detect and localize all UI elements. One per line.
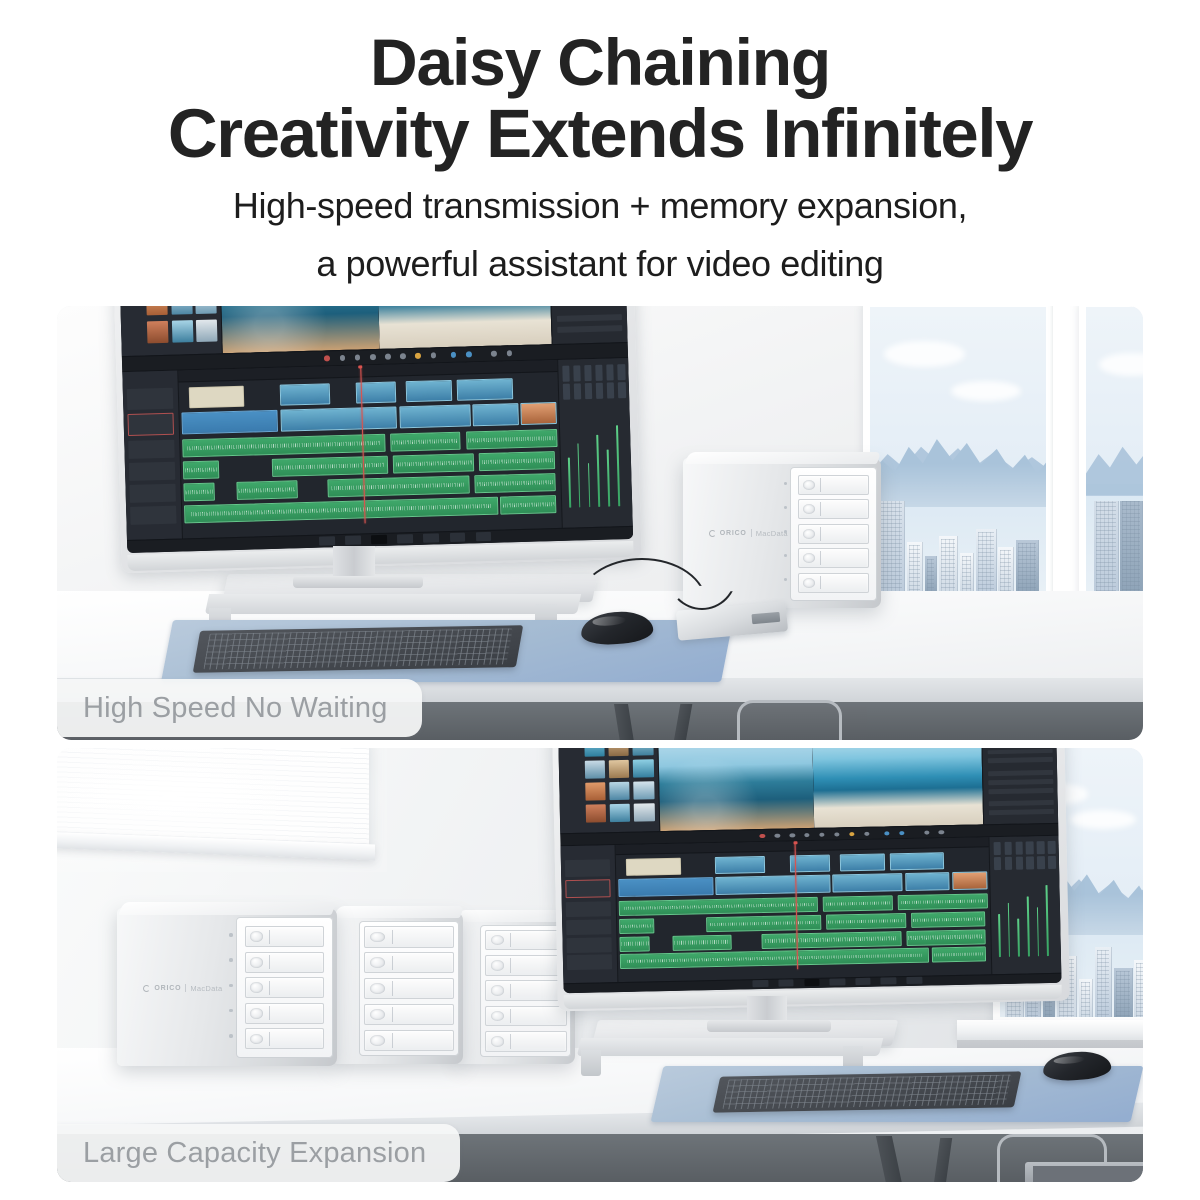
drive-bay[interactable] <box>798 499 869 519</box>
source-viewer[interactable] <box>220 306 380 353</box>
caption-badge-large-capacity: Large Capacity Expansion <box>57 1124 460 1182</box>
building <box>877 501 905 593</box>
brand-divider <box>751 529 752 537</box>
drive-status-led <box>229 984 233 988</box>
mixer-knob[interactable] <box>1004 857 1011 870</box>
drive-status-led <box>229 958 233 962</box>
tool-icon[interactable] <box>506 350 512 355</box>
enclosure-top <box>119 902 338 915</box>
video-editor-ui[interactable] <box>558 748 1061 993</box>
building <box>939 536 958 593</box>
monitor-foot <box>293 576 423 588</box>
timeline-clip[interactable] <box>833 873 903 892</box>
media-thumbnail[interactable] <box>632 748 653 756</box>
page-button-deliver[interactable] <box>475 532 491 541</box>
mixer-knob[interactable] <box>617 365 625 381</box>
page-button-edit[interactable] <box>371 535 387 544</box>
mixer-level-meter <box>577 443 580 507</box>
viewer-frame-beach <box>376 306 551 349</box>
ultrawide-monitor <box>112 306 641 573</box>
window-right-pane <box>1079 306 1143 600</box>
mixer-knob[interactable] <box>595 365 603 381</box>
subhead-line-2: a powerful assistant for video editing <box>0 242 1200 286</box>
inspector-row[interactable] <box>557 325 623 333</box>
timeline-clip[interactable] <box>280 406 397 431</box>
media-pool-panel[interactable] <box>118 306 223 356</box>
mixer-level-meter <box>1018 919 1020 957</box>
timeline-panel[interactable] <box>122 358 633 541</box>
mixer-level-meter <box>998 914 1000 958</box>
tool-icon[interactable] <box>415 353 421 358</box>
mixer-knob[interactable] <box>1037 842 1044 855</box>
mixer-knob[interactable] <box>993 842 1000 855</box>
drive-bay[interactable] <box>798 475 869 495</box>
track-header-audio[interactable] <box>130 483 176 503</box>
ultrawide-monitor <box>552 748 1070 1011</box>
monitor-screen[interactable] <box>558 748 1061 993</box>
track-header-audio[interactable] <box>129 461 175 481</box>
mixer-knob[interactable] <box>1048 856 1055 869</box>
building <box>1114 968 1133 1017</box>
mixer-knob[interactable] <box>596 383 604 399</box>
drive-bay[interactable] <box>798 573 869 593</box>
mixer-level-meter <box>1046 885 1049 956</box>
timeline-viewer[interactable] <box>376 306 551 349</box>
orico-logo-icon <box>709 530 716 537</box>
mixer-level-meter <box>616 425 620 506</box>
drive-status-led <box>784 578 787 581</box>
drive-bay[interactable] <box>245 926 324 947</box>
caption-text: Large Capacity Expansion <box>83 1137 426 1170</box>
mixer-knob[interactable] <box>1015 842 1022 855</box>
media-thumbnail[interactable] <box>633 759 654 777</box>
timeline-clip[interactable] <box>619 918 654 934</box>
timeline-clip[interactable] <box>826 913 906 930</box>
timeline-clip[interactable] <box>188 385 244 408</box>
video-editor-ui[interactable] <box>118 306 633 553</box>
track-header-audio[interactable] <box>567 937 612 953</box>
timeline-clip[interactable] <box>183 460 219 480</box>
building <box>960 553 974 593</box>
drive-bay[interactable] <box>245 952 324 973</box>
mixer-knob[interactable] <box>994 857 1001 870</box>
drive-bay[interactable] <box>798 548 869 568</box>
drive-status-led <box>229 933 233 937</box>
building <box>1134 960 1143 1017</box>
tool-icon[interactable] <box>431 353 437 358</box>
timeline-clip[interactable] <box>706 915 821 932</box>
tool-icon[interactable] <box>939 830 945 834</box>
timeline-clip[interactable] <box>889 852 944 871</box>
building <box>976 529 997 593</box>
tool-icon[interactable] <box>466 352 472 357</box>
enclosure-brand-logo: ORICO MacData <box>143 984 222 993</box>
media-thumbnail[interactable] <box>585 782 606 800</box>
mixer-level-meter <box>1037 907 1040 956</box>
media-thumbnail[interactable] <box>147 320 169 343</box>
tool-icon[interactable] <box>924 830 930 834</box>
tool-icon[interactable] <box>849 832 855 836</box>
timeline-clip[interactable] <box>457 378 513 401</box>
tool-icon[interactable] <box>355 355 361 360</box>
timeline-clip[interactable] <box>911 911 986 928</box>
window-sill-right <box>957 1020 1143 1040</box>
track-header-audio[interactable] <box>567 954 612 970</box>
cityscape <box>1086 501 1143 593</box>
timeline-clip[interactable] <box>271 455 388 477</box>
timeline-clip[interactable] <box>716 875 831 895</box>
inspector-row[interactable] <box>556 314 622 322</box>
page-button-color[interactable] <box>423 534 439 543</box>
photo-panel-large-capacity: ORICO MacData <box>57 748 1143 1182</box>
page-button-color[interactable] <box>855 978 871 985</box>
mixer-level-meter <box>568 457 571 508</box>
track-header-audio[interactable] <box>566 901 611 917</box>
scene-desk-single-enclosure: ORICO MacData <box>57 306 1143 740</box>
mixer-knob[interactable] <box>584 365 592 381</box>
headline-line-2: Creativity Extends Infinitely <box>0 98 1200 170</box>
chair-armrest <box>737 700 842 740</box>
media-thumbnail[interactable] <box>608 748 629 756</box>
monitor-foot <box>707 1020 831 1032</box>
drive-bay[interactable] <box>485 1006 567 1027</box>
media-thumbnail[interactable] <box>585 805 606 823</box>
timeline-clip[interactable] <box>328 475 470 497</box>
tool-icon[interactable] <box>884 831 890 835</box>
viewer-frame-harbor <box>658 748 814 831</box>
media-thumbnail[interactable] <box>609 804 630 822</box>
tool-icon[interactable] <box>400 353 406 358</box>
media-thumbnail[interactable] <box>171 320 193 343</box>
drive-bay[interactable] <box>245 977 324 998</box>
timeline-clip[interactable] <box>905 872 950 891</box>
inspector-row[interactable] <box>987 748 1052 754</box>
track-header-video[interactable] <box>127 387 174 410</box>
tool-icon[interactable] <box>789 833 795 837</box>
media-thumbnail-grid[interactable] <box>145 306 218 343</box>
track-header-audio[interactable] <box>566 919 611 935</box>
mixer-knob[interactable] <box>562 366 570 382</box>
storage-enclosure-front: ORICO MacData <box>117 908 337 1066</box>
sky <box>1086 307 1143 484</box>
tool-icon[interactable] <box>339 355 345 360</box>
building <box>1120 501 1143 593</box>
media-thumbnail-grid[interactable] <box>584 748 655 823</box>
mixer-level-meter <box>588 463 591 507</box>
tool-icon[interactable] <box>451 352 457 357</box>
page-button-fairlight[interactable] <box>449 533 465 542</box>
drive-bay[interactable] <box>245 1003 324 1024</box>
timeline-clip[interactable] <box>182 434 385 458</box>
mixer-knob[interactable] <box>606 365 614 381</box>
drive-bay[interactable] <box>485 980 567 1001</box>
orico-logo-icon <box>143 985 150 992</box>
model-name: MacData <box>190 984 222 993</box>
timeline-clip[interactable] <box>715 856 765 875</box>
drive-status-led <box>229 1034 233 1038</box>
timeline-clip[interactable] <box>952 871 987 889</box>
inspector-row[interactable] <box>988 800 1053 806</box>
timeline-clip[interactable] <box>184 482 215 501</box>
media-thumbnail[interactable] <box>633 781 654 799</box>
drive-bay[interactable] <box>364 978 454 999</box>
enclosure-led-column <box>229 922 233 1048</box>
cityscape <box>870 501 1046 593</box>
building <box>1079 979 1093 1017</box>
drive-status-led <box>784 530 787 533</box>
tool-icon[interactable] <box>819 832 825 836</box>
subhead-line-1: High-speed transmission + memory expansi… <box>0 184 1200 228</box>
keyboard[interactable] <box>713 1071 1022 1112</box>
building <box>907 542 923 593</box>
mixer-knob[interactable] <box>607 383 615 399</box>
building <box>925 556 937 593</box>
drive-status-led <box>784 482 787 485</box>
enclosure-led-column <box>784 472 787 592</box>
drive-bay[interactable] <box>485 930 567 951</box>
audio-mixer-panel[interactable] <box>557 358 633 528</box>
timeline-clip[interactable] <box>898 893 988 910</box>
timeline-clip[interactable] <box>906 929 986 946</box>
storage-bin <box>1025 1162 1143 1182</box>
drive-bay[interactable] <box>245 1028 324 1049</box>
tool-icon[interactable] <box>804 833 810 837</box>
media-thumbnail[interactable] <box>609 782 630 800</box>
tool-icon[interactable] <box>370 354 376 359</box>
mixer-level-meter <box>597 434 601 506</box>
drive-bay[interactable] <box>798 524 869 544</box>
timeline-clip[interactable] <box>521 402 557 425</box>
source-viewer[interactable] <box>658 748 814 831</box>
brand-name: ORICO <box>154 985 181 992</box>
monitor-riser-front <box>205 594 581 614</box>
enclosure-top <box>685 452 882 464</box>
mixer-knob-grid[interactable] <box>993 841 1055 870</box>
mixer-knob[interactable] <box>562 384 570 400</box>
timeline-clip[interactable] <box>479 451 555 472</box>
mixer-knob[interactable] <box>1015 856 1022 869</box>
timeline-clip[interactable] <box>626 857 681 876</box>
tool-icon[interactable] <box>385 354 391 359</box>
page-button-fusion[interactable] <box>397 534 413 543</box>
drive-status-led <box>229 1009 233 1013</box>
mixer-knob[interactable] <box>618 382 626 398</box>
tool-icon[interactable] <box>834 832 840 836</box>
enclosure-drive-bays <box>236 917 333 1058</box>
mixer-knob[interactable] <box>574 384 582 400</box>
building <box>1016 540 1039 593</box>
enclosure-drive-bays <box>790 467 877 601</box>
building <box>1095 947 1112 1017</box>
scene-desk-three-enclosures: ORICO MacData <box>57 748 1143 1182</box>
window-left-pane <box>863 306 1053 600</box>
tool-icon[interactable] <box>760 833 766 837</box>
timeline-clip[interactable] <box>500 495 556 515</box>
mixer-knob-grid[interactable] <box>562 365 626 400</box>
building <box>1094 501 1119 593</box>
inspector-row[interactable] <box>988 788 1053 794</box>
inspector-row[interactable] <box>988 757 1053 763</box>
media-thumbnail[interactable] <box>146 306 168 316</box>
photo-panel-high-speed: ORICO MacData <box>57 306 1143 740</box>
drive-bay[interactable] <box>364 1004 454 1025</box>
timeline-clip[interactable] <box>466 429 558 450</box>
mixer-knob[interactable] <box>1026 856 1033 869</box>
enclosure-drive-bays <box>359 921 459 1056</box>
timeline-clip[interactable] <box>399 404 470 428</box>
page-button-cut[interactable] <box>345 536 361 545</box>
page-button-cut[interactable] <box>778 980 794 987</box>
viewer-frame-beach <box>812 748 983 828</box>
brand-name: ORICO <box>720 530 747 537</box>
media-thumbnail[interactable] <box>634 804 655 822</box>
mixer-knob[interactable] <box>1048 841 1055 854</box>
headline-line-1: Daisy Chaining <box>0 26 1200 98</box>
inspector-row[interactable] <box>988 779 1053 785</box>
timeline-clip[interactable] <box>393 453 474 474</box>
media-thumbnail[interactable] <box>584 760 605 778</box>
timeline-clip[interactable] <box>474 473 555 494</box>
track-header-video[interactable] <box>566 879 612 898</box>
tool-icon[interactable] <box>774 833 780 837</box>
mixer-knob[interactable] <box>585 383 593 399</box>
enclosure-top <box>333 906 464 918</box>
mixer-knob[interactable] <box>573 366 581 382</box>
monitor-riser-front <box>577 1038 883 1056</box>
drive-bay[interactable] <box>485 1031 567 1052</box>
storage-enclosure <box>333 912 463 1064</box>
page-button-media[interactable] <box>753 980 769 987</box>
window-glass <box>1086 307 1143 593</box>
timeline-clip[interactable] <box>620 936 650 952</box>
media-thumbnail[interactable] <box>195 306 217 314</box>
media-thumbnail[interactable] <box>584 748 605 757</box>
timeline-clip[interactable] <box>840 853 885 872</box>
tool-icon[interactable] <box>864 831 870 835</box>
timeline-viewer[interactable] <box>812 748 983 828</box>
mixer-level-meter <box>607 449 610 506</box>
mixer-knob[interactable] <box>1004 842 1011 855</box>
timeline-clip[interactable] <box>823 895 893 911</box>
mixer-level-meter <box>1027 897 1030 957</box>
media-thumbnail[interactable] <box>171 306 193 315</box>
cloud <box>884 341 965 367</box>
editor-top-section <box>558 748 1058 833</box>
timeline-clip[interactable] <box>619 877 714 897</box>
mixer-knob[interactable] <box>1037 856 1044 869</box>
track-header-video[interactable] <box>565 859 611 878</box>
inspector-panel[interactable] <box>981 748 1058 824</box>
track-headers[interactable] <box>561 845 619 983</box>
caption-text: High Speed No Waiting <box>83 692 388 725</box>
timeline-clip[interactable] <box>472 403 518 426</box>
drive-status-led <box>784 506 787 509</box>
timeline-clip[interactable] <box>182 410 279 435</box>
page-button-deliver[interactable] <box>906 977 922 984</box>
window-glass <box>870 307 1046 593</box>
timeline-panel[interactable] <box>561 836 1062 983</box>
drive-bay[interactable] <box>364 926 454 947</box>
track-header-audio[interactable] <box>129 440 175 460</box>
track-header-audio[interactable] <box>130 505 176 525</box>
window-mullion <box>1053 306 1079 606</box>
tool-icon[interactable] <box>491 351 497 356</box>
timeline-clip[interactable] <box>762 931 902 949</box>
drive-bay[interactable] <box>364 1030 454 1051</box>
keyboard[interactable] <box>193 625 523 673</box>
tool-icon[interactable] <box>899 831 905 835</box>
track-headers[interactable] <box>122 370 182 540</box>
ssd-port <box>751 612 780 625</box>
timeline-clip[interactable] <box>406 379 452 402</box>
timeline-clip[interactable] <box>620 948 929 969</box>
brand-divider <box>185 984 186 992</box>
marketing-header: Daisy Chaining Creativity Extends Infini… <box>0 0 1200 286</box>
timeline-clip[interactable] <box>390 432 461 453</box>
viewer-frame-harbor <box>220 306 380 353</box>
timeline-clip[interactable] <box>280 383 331 406</box>
drive-bay[interactable] <box>485 955 567 976</box>
track-header-video[interactable] <box>128 413 175 436</box>
page-button-fusion[interactable] <box>830 979 846 986</box>
media-thumbnail[interactable] <box>609 760 630 778</box>
timeline-clip[interactable] <box>237 480 298 500</box>
page-button-media[interactable] <box>319 537 335 546</box>
mixer-level-meter <box>1008 902 1011 957</box>
timeline-clip[interactable] <box>931 947 986 963</box>
page-button-edit[interactable] <box>804 979 820 986</box>
caption-badge-high-speed: High Speed No Waiting <box>57 679 422 737</box>
enclosure-brand-logo: ORICO MacData <box>709 529 788 538</box>
tool-icon[interactable] <box>324 356 330 361</box>
timeline-clip[interactable] <box>619 897 818 916</box>
media-pool-panel[interactable] <box>558 748 660 833</box>
inspector-row[interactable] <box>988 770 1053 776</box>
inspector-row[interactable] <box>989 809 1054 815</box>
mixer-knob[interactable] <box>1026 842 1033 855</box>
drive-bay[interactable] <box>364 952 454 973</box>
timeline-clip[interactable] <box>672 934 732 950</box>
timeline-clip[interactable] <box>184 496 498 523</box>
drive-status-led <box>784 554 787 557</box>
media-thumbnail[interactable] <box>196 319 218 342</box>
inspector-panel[interactable] <box>548 306 627 344</box>
monitor-screen[interactable] <box>118 306 633 553</box>
building <box>998 547 1014 593</box>
page-button-fairlight[interactable] <box>881 978 897 985</box>
audio-mixer-panel[interactable] <box>989 836 1062 974</box>
monitor-riser-leg <box>581 1050 601 1076</box>
